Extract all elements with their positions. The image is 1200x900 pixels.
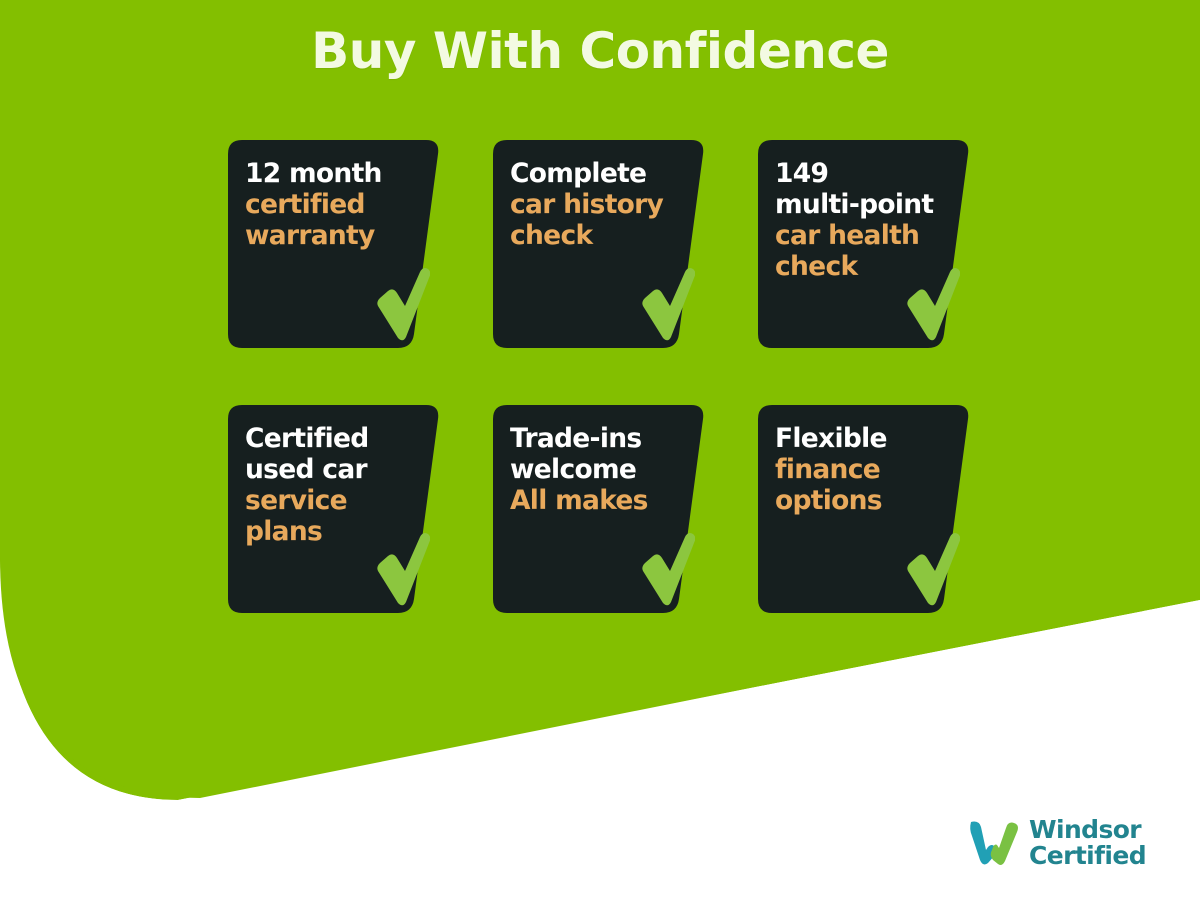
card-line: certified — [245, 190, 425, 221]
card-line: Complete — [510, 159, 690, 190]
check-mark-icon — [904, 268, 960, 342]
card-line: warranty — [245, 221, 425, 252]
card-text-block: Certified used car service plans — [245, 424, 425, 547]
feature-card-car-history-check[interactable]: Complete car history check — [493, 140, 705, 348]
card-text-block: 149 multi-point car health check — [775, 159, 955, 282]
card-text-block: Complete car history check — [510, 159, 690, 252]
card-line: multi-point — [775, 190, 955, 221]
card-line: options — [775, 486, 955, 517]
feature-card-finance-options[interactable]: Flexible finance options — [758, 405, 970, 613]
card-text-block: Trade-ins welcome All makes — [510, 424, 690, 517]
check-mark-icon — [639, 533, 695, 607]
feature-card-car-health-check[interactable]: 149 multi-point car health check — [758, 140, 970, 348]
feature-card-grid: 12 month certified warranty Complete car… — [228, 140, 973, 613]
logo-line-1: Windsor — [1029, 817, 1146, 844]
card-line: Certified — [245, 424, 425, 455]
logo-line-2: Certified — [1029, 843, 1146, 870]
logo-wordmark: Windsor Certified — [1029, 817, 1146, 870]
card-line: finance — [775, 455, 955, 486]
card-line: car history — [510, 190, 690, 221]
card-line: car health — [775, 221, 955, 252]
windsor-w-icon — [968, 819, 1020, 867]
check-mark-icon — [374, 533, 430, 607]
card-line: service — [245, 486, 425, 517]
card-line: Trade-ins — [510, 424, 690, 455]
poster-canvas: Buy With Confidence 12 month certified w… — [0, 0, 1200, 900]
card-line: Flexible — [775, 424, 955, 455]
page-title: Buy With Confidence — [0, 22, 1200, 80]
windsor-certified-logo[interactable]: Windsor Certified — [968, 812, 1168, 874]
check-mark-icon — [374, 268, 430, 342]
check-mark-icon — [904, 533, 960, 607]
card-text-block: Flexible finance options — [775, 424, 955, 517]
card-line: used car — [245, 455, 425, 486]
feature-card-certified-warranty[interactable]: 12 month certified warranty — [228, 140, 440, 348]
feature-card-trade-ins-welcome[interactable]: Trade-ins welcome All makes — [493, 405, 705, 613]
card-line: 12 month — [245, 159, 425, 190]
feature-card-service-plans[interactable]: Certified used car service plans — [228, 405, 440, 613]
card-line: 149 — [775, 159, 955, 190]
card-line: welcome — [510, 455, 690, 486]
card-line: All makes — [510, 486, 690, 517]
card-line: check — [510, 221, 690, 252]
card-text-block: 12 month certified warranty — [245, 159, 425, 252]
check-mark-icon — [639, 268, 695, 342]
